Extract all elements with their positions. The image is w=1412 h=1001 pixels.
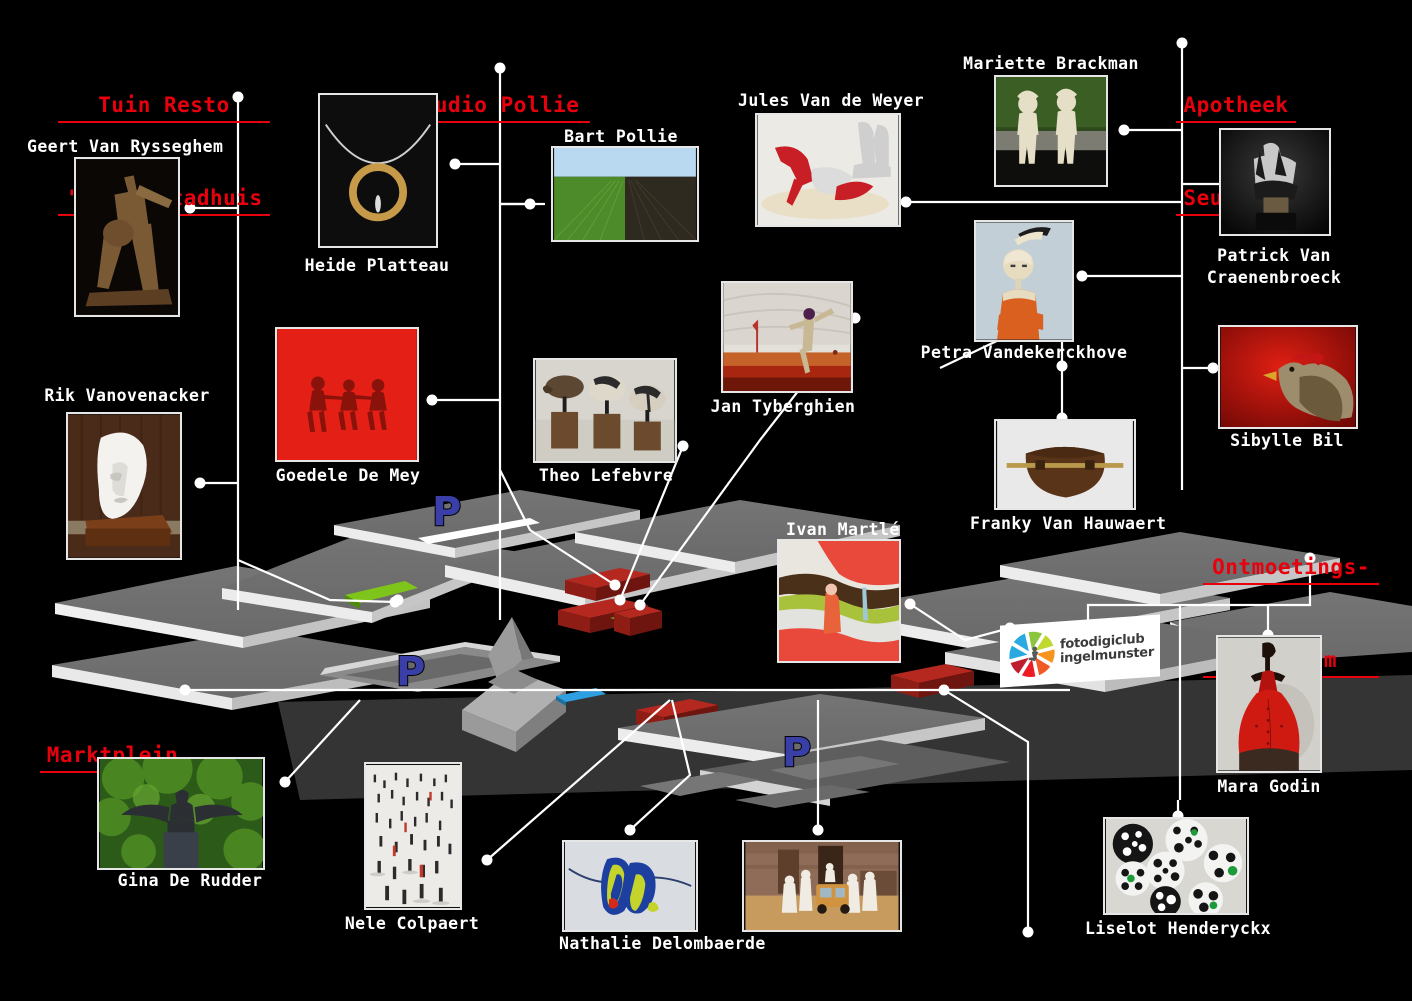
dark-metal-sculpture (1221, 130, 1329, 234)
parking-marker-north[interactable]: P (432, 489, 461, 535)
artwork-nathalie-delombaerde[interactable] (742, 840, 902, 932)
svg-text:P: P (396, 649, 425, 695)
caption-patrick-van-craenenbroeck-bottom: Gina De Rudder (108, 870, 272, 892)
abstract-red-green-painting (779, 541, 899, 661)
caption-rik-vanovenacker: Rik Vanovenacker (44, 385, 210, 407)
svg-text:P: P (432, 489, 461, 535)
art-route-poster: P P P (0, 0, 1412, 1001)
caption-goedele-de-mey: Goedele De Mey (272, 465, 424, 487)
caption-sibylle-bil: Sibylle Bil (1226, 430, 1348, 452)
artwork-ivan-martle[interactable] (777, 539, 901, 663)
venue-line: Tuin Resto (58, 91, 270, 123)
caption-liselot-henderyckx: Liselot Henderyckx (1082, 918, 1274, 940)
dancer-beach-painting (723, 283, 851, 391)
venue-line: Apotheek (1176, 91, 1296, 123)
caption-mariette-brackman: Mariette Brackman (962, 53, 1140, 75)
parking-marker-west[interactable]: P (396, 649, 425, 695)
caption-jan-tyberghien: Jan Tyberghien (708, 396, 858, 418)
caption-mara-godin: Mara Godin (1212, 776, 1326, 798)
artwork-patrick-van-craenenbroeck-bottom[interactable] (97, 757, 265, 870)
artwork-nele-colpaert[interactable] (562, 840, 698, 932)
svg-text:P: P (782, 730, 811, 776)
caption-petra-vandekerckhove: Petra Vandekerckhove (920, 342, 1128, 364)
artwork-franky-van-hauwaert[interactable] (994, 419, 1136, 510)
caption-geert-van-rysseghem: Geert Van Rysseghem (27, 136, 223, 158)
red-high-heels-drawing (757, 115, 899, 225)
artwork-goedele-de-mey[interactable] (275, 327, 419, 462)
white-face-sculpture (68, 414, 180, 558)
field-landscape (553, 148, 697, 240)
caption-gina-de-rudder: Nele Colpaert (334, 913, 490, 935)
three-bird-sculptures (535, 360, 675, 461)
artwork-sibylle-bil[interactable] (1218, 325, 1358, 429)
orange-dress-doll (976, 222, 1072, 340)
artwork-rik-vanovenacker[interactable] (66, 412, 182, 560)
venue-line: Ontmoetings- (1203, 553, 1379, 585)
artwork-liselot-henderyckx[interactable] (1103, 817, 1249, 915)
artwork-geert-van-rysseghem[interactable] (74, 157, 180, 317)
caption-franky-van-hauwaert: Franky Van Hauwaert (970, 513, 1164, 535)
artwork-theo-lefebvre[interactable] (533, 358, 677, 463)
fotodigiclub-logo[interactable]: fotodigiclub ingelmunster (1000, 614, 1160, 687)
artwork-mara-godin[interactable] (1216, 635, 1322, 773)
caption-bart-pollie: Bart Pollie (562, 126, 680, 148)
caption-ivan-martle: Ivan Martlé (786, 519, 896, 541)
artwork-jan-tyberghien[interactable] (721, 281, 853, 393)
artwork-bart-pollie[interactable] (551, 146, 699, 242)
caption-nele-colpaert: Nathalie Delombaerde (559, 933, 701, 955)
artwork-patrick-van-craenenbroeck-top[interactable] (1219, 128, 1331, 236)
artwork-mariette-brackman[interactable] (994, 75, 1108, 187)
artwork-gina-de-rudder[interactable] (364, 762, 462, 910)
bronze-guitar-sculpture (76, 159, 178, 315)
blue-yellow-pendant (564, 842, 696, 930)
caption-theo-lefebvre: Theo Lefebvre (535, 465, 677, 487)
black-white-dot-discs (1105, 819, 1247, 913)
two-ceramic-figures (996, 77, 1106, 185)
red-dress-figure (1218, 637, 1320, 771)
venue-label-gemeentehuis[interactable]: Gemeentehuis (942, 942, 1110, 1001)
wooden-bowl (996, 421, 1134, 508)
parking-marker-south[interactable]: P (782, 730, 811, 776)
caption-heide-platteau: Heide Platteau (302, 255, 452, 277)
artwork-petra-vandekerckhove[interactable] (974, 220, 1074, 342)
artwork-jules-van-de-weyer[interactable] (755, 113, 901, 227)
gold-ring-necklace (320, 95, 436, 246)
camera-aperture-icon (1004, 624, 1060, 684)
white-figures-and-van (744, 842, 900, 930)
crowd-of-people (366, 764, 460, 908)
winged-bronze-statue (99, 759, 263, 868)
red-chicken-painting (1220, 327, 1356, 427)
caption-jules-van-de-weyer: Jules Van de Weyer (736, 90, 926, 112)
artwork-heide-platteau[interactable] (318, 93, 438, 248)
red-children-silhouettes (277, 329, 417, 460)
caption-patrick-van-craenenbroeck-top: Patrick Van Craenenbroeck (1202, 245, 1346, 289)
